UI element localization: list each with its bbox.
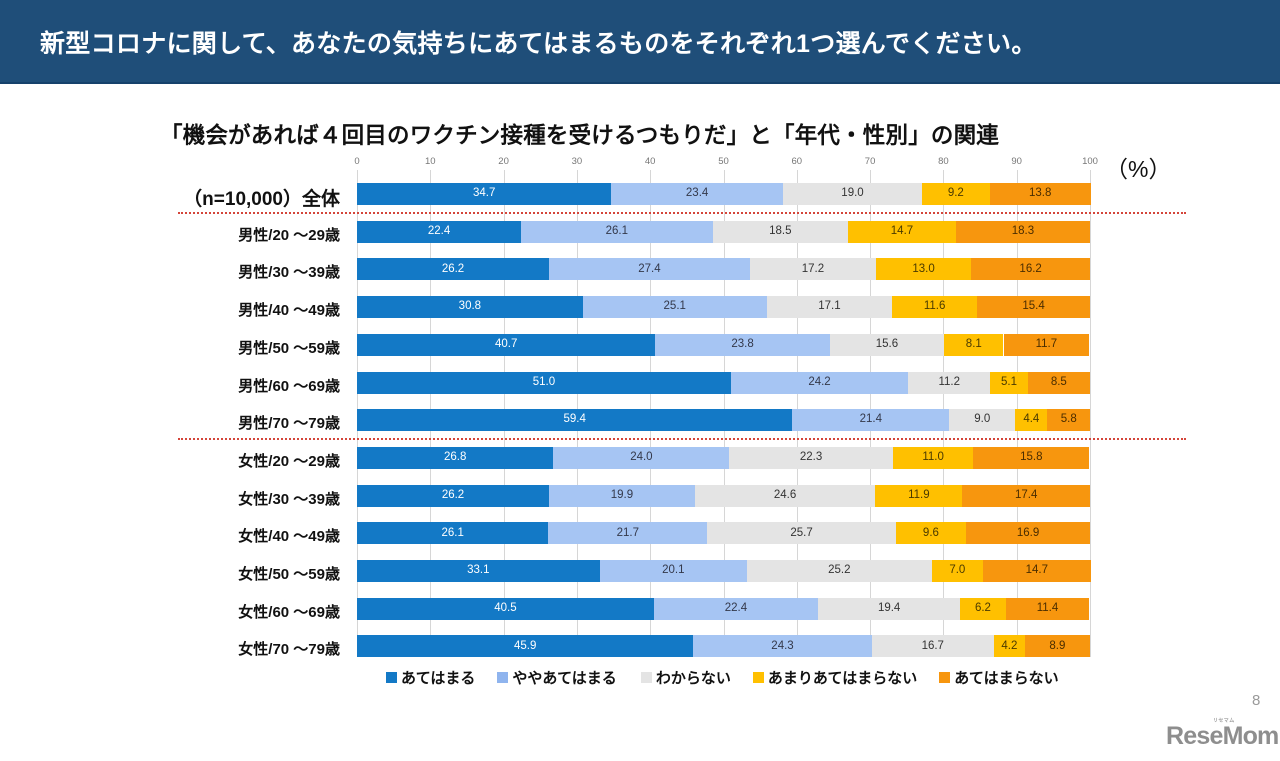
bar-row: 59.421.49.04.45.8	[357, 409, 1090, 431]
bar-segment: 16.7	[872, 635, 994, 657]
bar-segment: 8.9	[1025, 635, 1090, 657]
legend-label: あてはまる	[401, 667, 475, 688]
bar-segment: 45.9	[357, 635, 693, 657]
legend-label: わからない	[656, 667, 731, 688]
logo-wordmark: ReseMom.	[1166, 722, 1280, 750]
bar-segment: 30.8	[357, 296, 583, 318]
bar-segment: 23.4	[611, 183, 783, 205]
x-axis-tick-label: 60	[792, 156, 803, 167]
chart-legend: あてはまるややあてはまるわからないあまりあてはまらないあてはまらない	[386, 667, 1059, 688]
bar-segment: 8.5	[1028, 372, 1090, 394]
bar-row: 45.924.316.74.28.9	[357, 635, 1090, 657]
legend-item[interactable]: ややあてはまる	[497, 667, 616, 688]
bar-segment: 40.7	[357, 334, 655, 356]
bar-segment: 21.7	[548, 522, 707, 544]
bar-row: 40.522.419.46.211.4	[357, 598, 1090, 620]
bar-segment: 24.2	[731, 372, 908, 394]
bar-segment: 22.4	[357, 221, 521, 243]
legend-label: あまりあてはまらない	[768, 667, 917, 688]
legend-swatch-icon	[641, 672, 652, 683]
bar-segment: 11.0	[893, 447, 974, 469]
category-label: 女性/50 〜59歳	[0, 563, 348, 584]
legend-item[interactable]: あてはまる	[386, 667, 475, 688]
bar-segment: 11.4	[1006, 598, 1090, 620]
bar-segment: 15.4	[977, 296, 1090, 318]
stacked-bar-chart: 0102030405060708090100（n=10,000）全体34.723…	[0, 0, 1280, 761]
bar-segment: 25.7	[707, 522, 895, 544]
legend-swatch-icon	[753, 672, 764, 683]
category-label: 男性/40 〜49歳	[0, 299, 348, 320]
bar-segment: 11.2	[908, 372, 990, 394]
legend-swatch-icon	[386, 672, 397, 683]
x-axis-tick-label: 80	[938, 156, 949, 167]
category-label: 男性/60 〜69歳	[0, 375, 348, 396]
page-number: 8	[1252, 692, 1260, 709]
bar-segment: 51.0	[357, 372, 731, 394]
x-axis-tick-label: 0	[354, 156, 359, 167]
bar-segment: 26.2	[357, 258, 549, 280]
bar-segment: 27.4	[549, 258, 750, 280]
x-axis-tick-label: 100	[1082, 156, 1098, 167]
bar-segment: 19.4	[818, 598, 960, 620]
bar-segment: 26.1	[521, 221, 712, 243]
category-label: （n=10,000）全体	[0, 184, 348, 211]
bar-segment: 14.7	[848, 221, 956, 243]
bar-segment: 5.1	[990, 372, 1027, 394]
bar-segment: 9.2	[922, 183, 989, 205]
bar-segment: 19.9	[549, 485, 695, 507]
bar-segment: 18.5	[713, 221, 849, 243]
bar-segment: 59.4	[357, 409, 792, 431]
bar-segment: 14.7	[983, 560, 1091, 582]
x-axis-tick-label: 90	[1011, 156, 1022, 167]
bar-segment: 5.8	[1047, 409, 1090, 431]
legend-item[interactable]: わからない	[641, 667, 731, 688]
group-separator	[178, 438, 1186, 440]
bar-row: 26.121.725.79.616.9	[357, 522, 1090, 544]
bar-segment: 11.6	[892, 296, 977, 318]
category-label: 女性/40 〜49歳	[0, 525, 348, 546]
x-axis-tick-label: 70	[865, 156, 876, 167]
bar-segment: 7.0	[932, 560, 983, 582]
category-label: 男性/50 〜59歳	[0, 337, 348, 358]
x-axis-tick-label: 30	[572, 156, 583, 167]
bar-segment: 26.1	[357, 522, 548, 544]
bar-row: 26.219.924.611.917.4	[357, 485, 1090, 507]
gridline	[1090, 170, 1091, 657]
bar-segment: 18.3	[956, 221, 1090, 243]
bar-segment: 9.6	[896, 522, 966, 544]
bar-segment: 25.2	[747, 560, 932, 582]
bar-segment: 16.2	[971, 258, 1090, 280]
bar-segment: 4.4	[1015, 409, 1047, 431]
bar-segment: 17.4	[962, 485, 1090, 507]
bar-segment: 23.8	[655, 334, 829, 356]
bar-segment: 15.8	[973, 447, 1089, 469]
bar-row: 40.723.815.68.111.7	[357, 334, 1090, 356]
bar-segment: 26.8	[357, 447, 553, 469]
bar-segment: 24.3	[693, 635, 871, 657]
bar-segment: 8.1	[944, 334, 1003, 356]
bar-segment: 6.2	[960, 598, 1005, 620]
bar-row: 51.024.211.25.18.5	[357, 372, 1090, 394]
x-axis-tick-label: 10	[425, 156, 436, 167]
category-label: 女性/70 〜79歳	[0, 638, 348, 659]
bar-row: 26.227.417.213.016.2	[357, 258, 1090, 280]
bar-segment: 13.0	[876, 258, 971, 280]
bar-row: 22.426.118.514.718.3	[357, 221, 1090, 243]
x-axis-tick-label: 50	[718, 156, 729, 167]
bar-segment: 17.1	[767, 296, 892, 318]
legend-item[interactable]: あてはまらない	[939, 667, 1058, 688]
group-separator	[178, 212, 1186, 214]
bar-segment: 20.1	[600, 560, 747, 582]
bar-segment: 11.7	[1004, 334, 1090, 356]
bar-segment: 22.3	[729, 447, 892, 469]
category-label: 女性/60 〜69歳	[0, 601, 348, 622]
bar-segment: 21.4	[792, 409, 949, 431]
category-label: 女性/20 〜29歳	[0, 450, 348, 471]
bar-row: 33.120.125.27.014.7	[357, 560, 1090, 582]
bar-segment: 15.6	[830, 334, 944, 356]
bar-segment: 40.5	[357, 598, 654, 620]
bar-segment: 13.8	[990, 183, 1091, 205]
bar-segment: 26.2	[357, 485, 549, 507]
legend-swatch-icon	[939, 672, 950, 683]
bar-row: 26.824.022.311.015.8	[357, 447, 1090, 469]
legend-item[interactable]: あまりあてはまらない	[753, 667, 917, 688]
bar-segment: 24.6	[695, 485, 875, 507]
bar-row: 30.825.117.111.615.4	[357, 296, 1090, 318]
legend-label: あてはまらない	[954, 667, 1058, 688]
bar-segment: 11.9	[875, 485, 962, 507]
legend-swatch-icon	[497, 672, 508, 683]
bar-segment: 19.0	[783, 183, 922, 205]
bar-segment: 24.0	[553, 447, 729, 469]
bar-segment: 9.0	[949, 409, 1015, 431]
logo-ruby-text: リセマム	[1213, 717, 1235, 724]
bar-segment: 33.1	[357, 560, 600, 582]
legend-label: ややあてはまる	[512, 667, 616, 688]
bar-segment: 16.9	[966, 522, 1090, 544]
bar-row: 34.723.419.09.213.8	[357, 183, 1090, 205]
bar-segment: 4.2	[994, 635, 1025, 657]
bar-segment: 17.2	[750, 258, 876, 280]
category-label: 男性/20 〜29歳	[0, 224, 348, 245]
x-axis-tick-label: 40	[645, 156, 656, 167]
bar-segment: 25.1	[583, 296, 767, 318]
category-label: 男性/70 〜79歳	[0, 412, 348, 433]
bar-segment: 22.4	[654, 598, 818, 620]
slide-canvas: 新型コロナに関して、あなたの気持ちにあてはまるものをそれぞれ1つ選んでください。…	[0, 0, 1280, 761]
bar-segment: 34.7	[357, 183, 611, 205]
category-label: 女性/30 〜39歳	[0, 488, 348, 509]
x-axis-tick-label: 20	[498, 156, 509, 167]
category-label: 男性/30 〜39歳	[0, 261, 348, 282]
resemom-logo: ReseMom. リセマム	[1166, 722, 1280, 751]
